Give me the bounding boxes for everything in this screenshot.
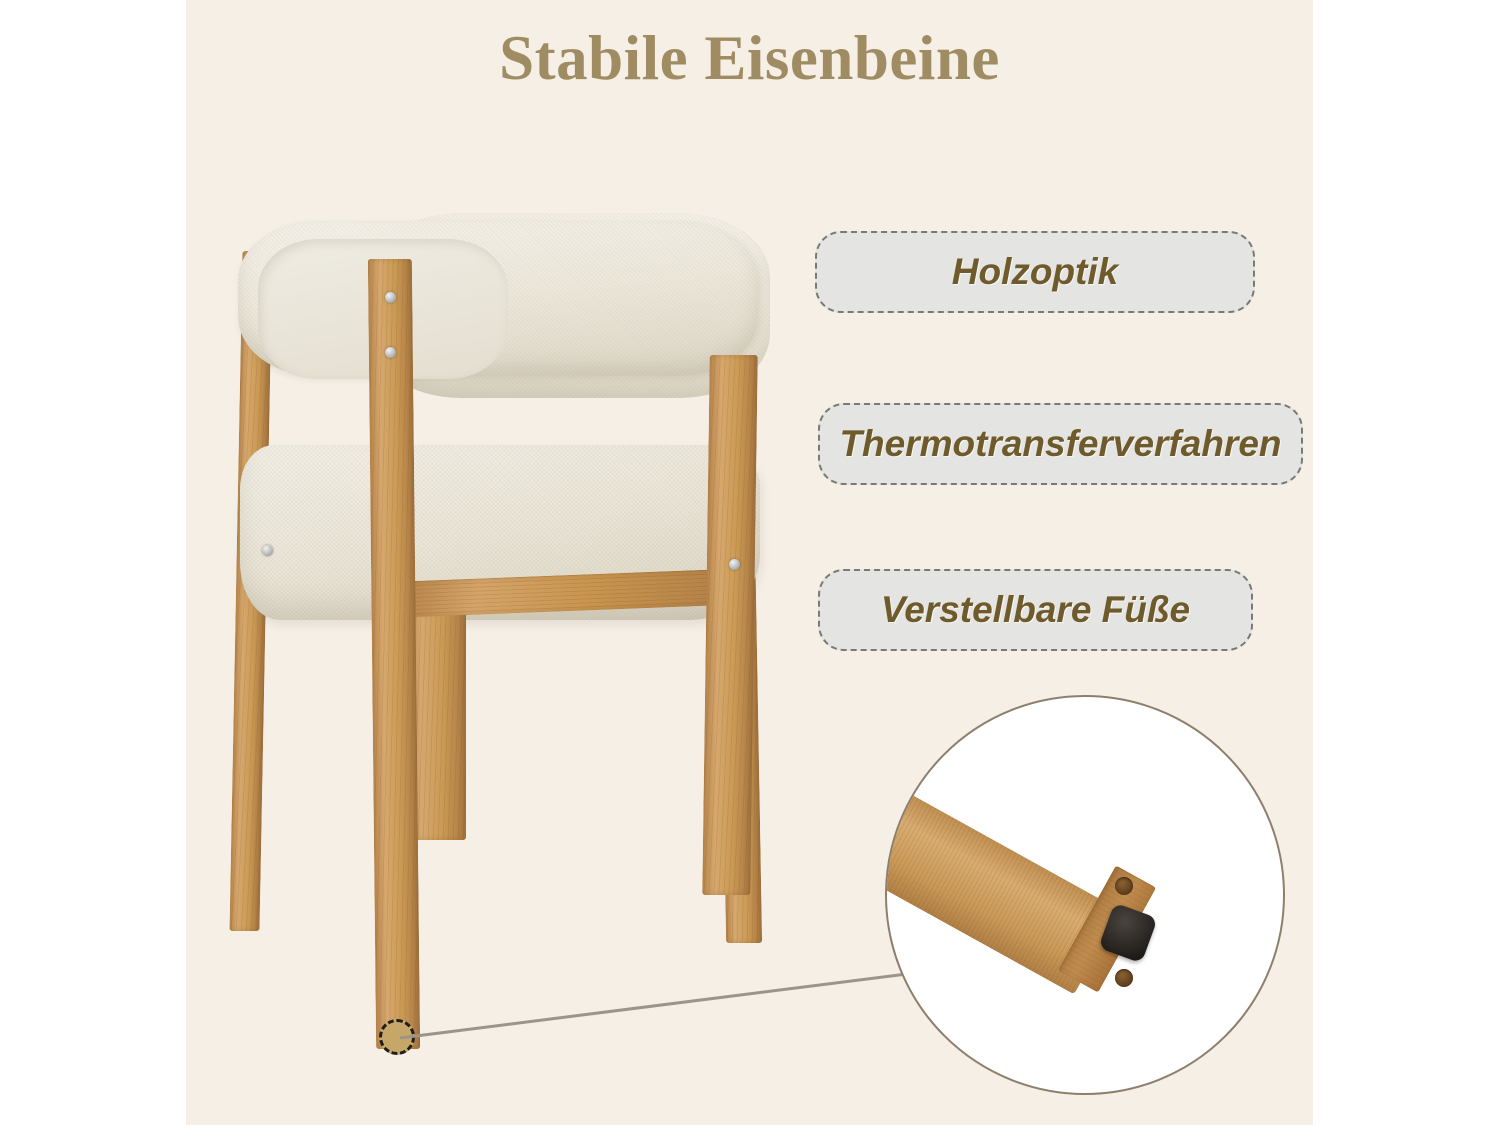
- screw-lower-left: [385, 347, 396, 358]
- feature-badge-thermotransferverfahren: Thermotransferverfahren: [818, 403, 1303, 485]
- product-image-chair: [210, 195, 820, 1075]
- feature-badge-verstellbare-fuesse: Verstellbare Füße: [818, 569, 1253, 651]
- feature-badge-label: Thermotransferverfahren: [839, 423, 1281, 465]
- detail-magnifier-circle: [885, 695, 1285, 1095]
- page-title: Stabile Eisenbeine: [186, 22, 1313, 95]
- feature-badge-label: Verstellbare Füße: [881, 589, 1190, 631]
- screw-upper-left: [385, 292, 396, 303]
- feature-badge-label: Holzoptik: [952, 251, 1118, 293]
- adjustable-foot-marker: [379, 1019, 415, 1055]
- infographic-canvas: Stabile Eisenbeine Holzoptik Thermot: [0, 0, 1500, 1125]
- screw-hole-top-icon: [1115, 877, 1133, 895]
- screw-side-left: [262, 545, 273, 556]
- chair-leg-front-right: [702, 355, 758, 895]
- screw-side-right: [729, 559, 740, 570]
- chair-leg-front-left: [368, 259, 420, 1049]
- feature-badge-holzoptik: Holzoptik: [815, 231, 1255, 313]
- screw-hole-bottom-icon: [1115, 969, 1133, 987]
